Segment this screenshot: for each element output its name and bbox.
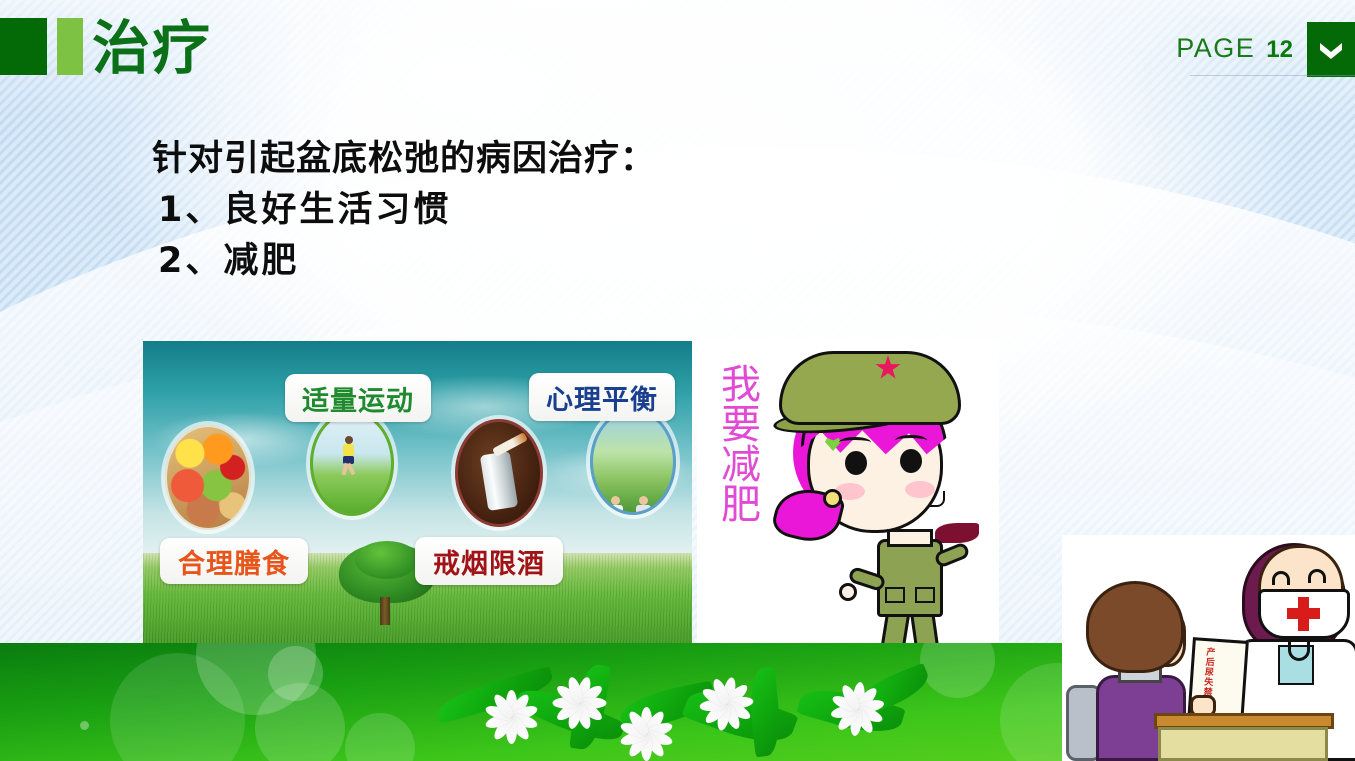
page-label: PAGE — [1176, 33, 1255, 64]
poster-circle-smoking-drinking — [455, 419, 543, 527]
cartoon-girl-pocket-left — [885, 587, 905, 603]
next-slide-button[interactable] — [1307, 22, 1355, 77]
poster-circle-runner — [310, 411, 394, 516]
footer-daisy — [621, 708, 671, 758]
body-item-2: 2、减肥 — [152, 236, 656, 287]
page-number: 12 — [1266, 36, 1293, 64]
cartoon-girl-mouth — [929, 491, 945, 507]
page-title: 治疗 — [92, 13, 212, 83]
doctor-scene-stethoscope — [1288, 639, 1310, 661]
cartoon-girl-collar — [887, 529, 933, 547]
cartoon-girl-military-cap — [779, 351, 961, 425]
image-cartoon-girl-weight-loss[interactable]: 我要减肥 图片来源 网络 — [697, 339, 999, 658]
title-marker-light-square — [57, 18, 83, 75]
title-marker-dark-square — [0, 18, 47, 75]
body-heading: 针对引起盆底松弛的病因治疗： — [152, 134, 656, 185]
poster-label-smoking: 戒烟限酒 — [415, 537, 563, 585]
image-health-lifestyle-poster[interactable]: 合理膳食 适量运动 戒烟限酒 心理平衡 — [143, 341, 692, 657]
poster-circle-food — [165, 425, 251, 530]
footer-daisy — [553, 676, 605, 728]
poster-label-exercise: 适量运动 — [285, 374, 431, 422]
red-cross-icon-bar — [1287, 608, 1320, 619]
doctor-scene-doctor-eye-right — [1308, 569, 1326, 583]
doctor-scene-desk-front — [1158, 727, 1328, 761]
chevron-down-icon — [1318, 40, 1344, 60]
cartoon-girl-eyebrow-left — [839, 437, 871, 448]
image-doctor-consultation[interactable]: 产后尿失禁 — [1062, 535, 1355, 761]
cartoon-girl-eyebrow-right — [895, 435, 927, 446]
cartoon-girl-slogan: 我要减肥 — [707, 363, 763, 523]
cartoon-girl-hair-tie — [823, 489, 842, 508]
footer-daisy — [829, 680, 885, 736]
footer-daisy — [483, 688, 539, 744]
body-item-1: 1、良好生活习惯 — [152, 185, 656, 236]
cartoon-girl-eye-left — [845, 451, 867, 475]
footer-flower-band — [395, 646, 935, 761]
slide-root: 治疗 PAGE 12 针对引起盆底松弛的病因治疗： 1、良好生活习惯 2、减肥 — [0, 0, 1355, 761]
cartoon-girl-eye-right — [900, 449, 922, 473]
cartoon-girl-pocket-right — [915, 587, 935, 603]
doctor-scene-doctor-eye-left — [1272, 571, 1290, 585]
page-indicator: PAGE 12 — [1176, 33, 1293, 64]
header-divider — [1190, 75, 1355, 76]
poster-circle-elderly-couple — [590, 409, 676, 515]
footer-daisy — [695, 672, 757, 734]
body-text-block: 针对引起盆底松弛的病因治疗： 1、良好生活习惯 2、减肥 — [152, 134, 656, 287]
cartoon-girl-hand-left — [839, 583, 857, 601]
cartoon-girl-uniform — [877, 539, 943, 617]
poster-label-diet: 合理膳食 — [160, 538, 308, 584]
cartoon-girl-scarf — [935, 523, 979, 543]
doctor-scene-patient-hair — [1086, 581, 1184, 673]
poster-label-mind: 心理平衡 — [529, 373, 675, 421]
